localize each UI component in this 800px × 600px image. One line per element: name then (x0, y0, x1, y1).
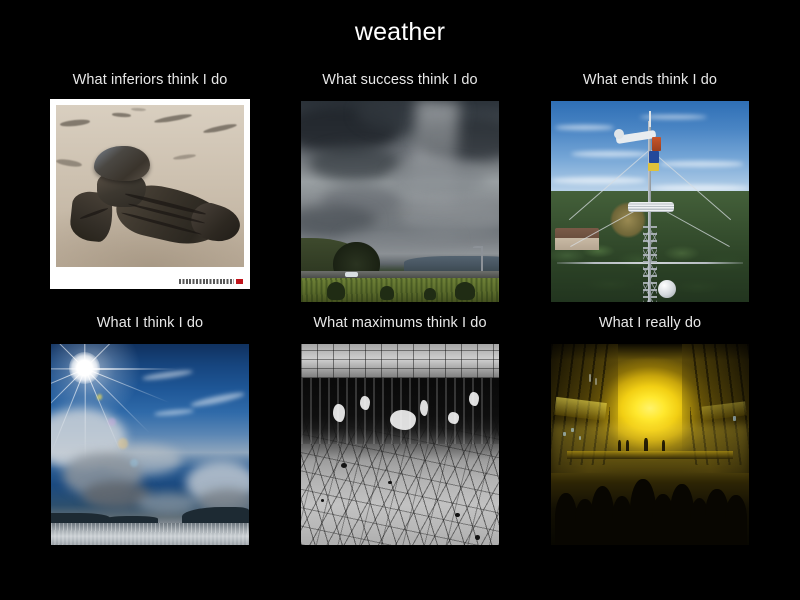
sand-debris-streak (60, 118, 91, 127)
sand-debris-streak (112, 112, 131, 117)
cirrus-wisp (551, 177, 646, 183)
panel-1[interactable]: What inferiors think I do (25, 70, 275, 315)
weather-project-scene (551, 344, 749, 545)
sand-debris-streak (172, 154, 195, 161)
panel-4[interactable]: What I think I do (25, 313, 275, 558)
cirrus-wisp (555, 125, 614, 130)
cracked-paint-scene (301, 344, 499, 545)
panel-2[interactable]: What success think I do (275, 70, 525, 315)
headland-silhouette (106, 516, 157, 523)
storm-cloud-mass (388, 161, 487, 195)
window-light (595, 378, 598, 385)
radiation-shield (628, 202, 674, 212)
house-roof (555, 228, 599, 250)
meme-grid-canvas: weather What inferiors think I do (0, 0, 800, 600)
panel-caption: What ends think I do (525, 70, 775, 92)
upper-brick-strip (301, 344, 499, 378)
headland-silhouette (182, 507, 249, 523)
cracked-paint-texture-photo[interactable] (299, 342, 501, 547)
sensor-blue (649, 151, 659, 163)
window-light (571, 428, 574, 432)
distant-visitor (662, 440, 665, 450)
dark-pit (321, 499, 325, 502)
paint-chip-highlight (420, 400, 428, 416)
cirrus-wisp (660, 161, 743, 166)
storm-cloud-mass (309, 145, 400, 181)
sensor-dome (658, 280, 676, 298)
driftwood-crown (94, 146, 150, 182)
top-antenna (649, 111, 651, 127)
storm-scene (301, 101, 499, 302)
weather-station-mast-photo[interactable] (549, 99, 751, 304)
crowd-silhouettes (551, 461, 749, 545)
dark-pit (475, 535, 480, 540)
panel-caption: What inferiors think I do (25, 70, 275, 92)
lens-flare-spot (118, 438, 128, 448)
watermark-text-glyphs (179, 279, 234, 284)
distant-visitor (626, 440, 629, 450)
cirrus-wisp (571, 151, 650, 157)
window-light (589, 374, 592, 382)
driftwood-scene (56, 105, 244, 267)
field-bush (455, 282, 475, 300)
panel-caption: What success think I do (275, 70, 525, 92)
roadway (301, 271, 499, 278)
panel-6[interactable]: What I really do (525, 313, 775, 558)
paint-chip-highlight (333, 404, 345, 422)
panel-caption: What I think I do (25, 313, 275, 335)
window-light (579, 436, 581, 439)
visitor-silhouette (725, 495, 747, 545)
sand-debris-streak (202, 123, 236, 135)
storm-clouds-over-field-photo[interactable] (299, 99, 501, 304)
visitor-silhouette (555, 493, 577, 545)
field-bush (380, 286, 394, 300)
sensor-orange (652, 137, 661, 151)
panel-grid: What inferiors think I do (0, 70, 800, 570)
sun-over-sea-clouds-photo[interactable] (49, 342, 251, 547)
page-title: weather (0, 17, 800, 47)
distant-visitor (644, 438, 648, 450)
sand-debris-streak (154, 113, 192, 124)
car-on-road (345, 272, 359, 277)
distant-hills (404, 256, 499, 272)
panel-3[interactable]: What ends think I do (525, 70, 775, 315)
sea-surface (51, 523, 249, 545)
dark-pit (341, 463, 347, 468)
sand-debris-streak (131, 108, 146, 112)
lens-flare-spot (130, 459, 138, 467)
sensor-yellow (648, 163, 659, 171)
field-bush (424, 288, 436, 300)
panel-caption: What maximums think I do (275, 313, 525, 335)
weather-station-scene (551, 101, 749, 302)
panel-caption: What I really do (525, 313, 775, 335)
cirrus-cloud (154, 409, 194, 417)
window-light (563, 432, 566, 436)
window-light (733, 416, 736, 420)
visitor-silhouette (591, 486, 615, 545)
sun-sea-scene (51, 344, 249, 545)
photographer-watermark (179, 278, 243, 285)
walkway-bridge (567, 451, 733, 459)
sand-debris-streak (56, 158, 83, 169)
headland-silhouette (51, 513, 110, 523)
cumulus-cloud (138, 493, 197, 513)
cirrus-cloud (189, 391, 245, 409)
weather-project-installation-photo[interactable] (549, 342, 751, 547)
watermark-red-mark (236, 279, 243, 284)
field-bush (327, 282, 345, 300)
driftwood-on-beach-photo[interactable] (50, 99, 250, 289)
panel-5[interactable]: What maximums think I do (275, 313, 525, 558)
dark-pit (455, 513, 459, 517)
visitor-silhouette (612, 496, 632, 545)
dark-pit (388, 481, 392, 485)
cirrus-cloud (142, 369, 194, 382)
treeline (333, 242, 381, 274)
